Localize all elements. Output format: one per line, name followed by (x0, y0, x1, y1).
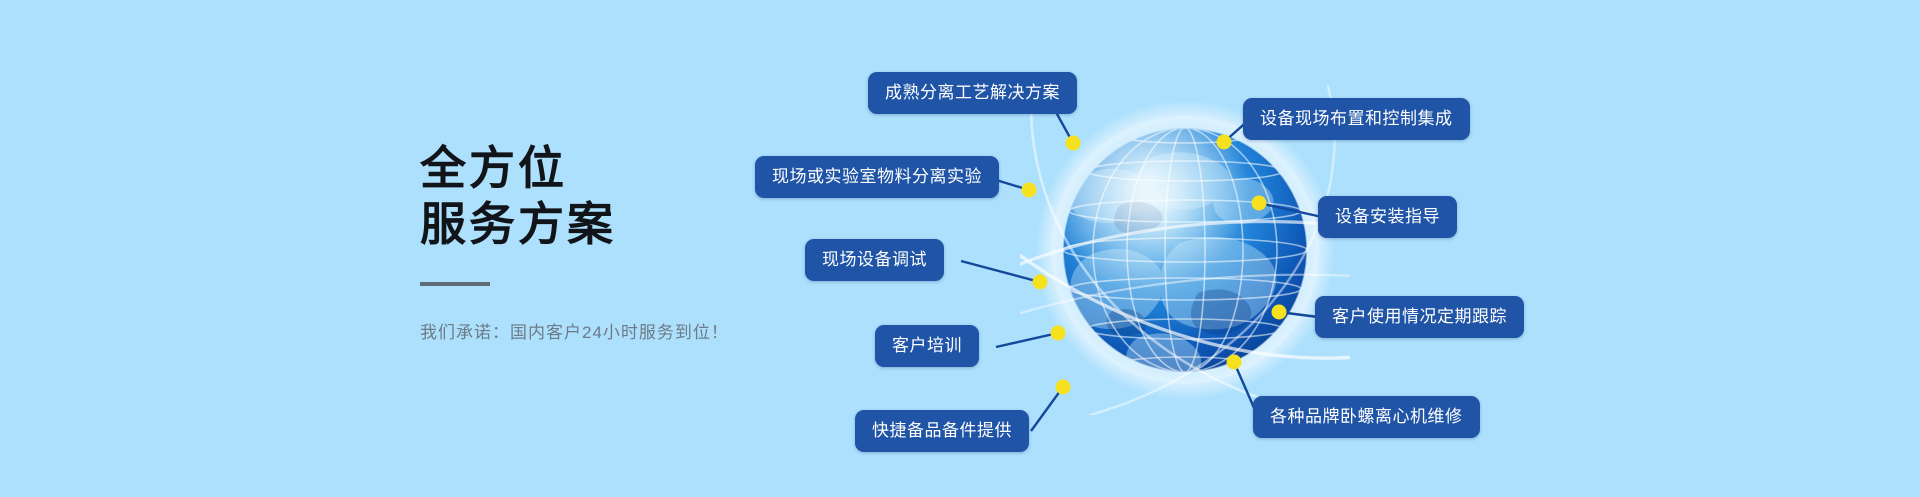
connector-line-4 (996, 333, 1058, 347)
service-label-all-brand-decanter-centrifuge-repair[interactable]: 各种品牌卧螺离心机维修 (1253, 396, 1480, 438)
service-label-periodic-customer-usage-followup[interactable]: 客户使用情况定期跟踪 (1315, 296, 1524, 338)
connector-dot-3 (1033, 275, 1048, 290)
service-label-mature-separation-process-solution[interactable]: 成熟分离工艺解决方案 (868, 72, 1077, 114)
connector-dot-6 (1217, 135, 1232, 150)
connector-dot-9 (1227, 355, 1242, 370)
connector-line-5 (1031, 387, 1063, 431)
connector-dot-2 (1022, 183, 1037, 198)
connector-dot-7 (1252, 196, 1267, 211)
service-label-onsite-or-lab-material-separation-test[interactable]: 现场或实验室物料分离实验 (755, 156, 999, 198)
service-label-equipment-installation-guidance[interactable]: 设备安装指导 (1318, 196, 1457, 238)
service-label-onsite-equipment-commissioning[interactable]: 现场设备调试 (805, 239, 944, 281)
service-label-fast-spare-parts-supply[interactable]: 快捷备品备件提供 (855, 410, 1029, 452)
connector-line-7 (1259, 203, 1322, 217)
service-solution-banner: 全方位 服务方案 我们承诺：国内客户24小时服务到位！ (0, 0, 1920, 497)
connector-dot-1 (1066, 136, 1081, 151)
service-label-equipment-layout-and-control-integration[interactable]: 设备现场布置和控制集成 (1243, 98, 1470, 140)
service-label-customer-training[interactable]: 客户培训 (875, 325, 979, 367)
connector-dot-8 (1272, 305, 1287, 320)
connector-line-3 (961, 261, 1040, 282)
connector-dot-5 (1056, 380, 1071, 395)
connector-dot-4 (1051, 326, 1066, 341)
